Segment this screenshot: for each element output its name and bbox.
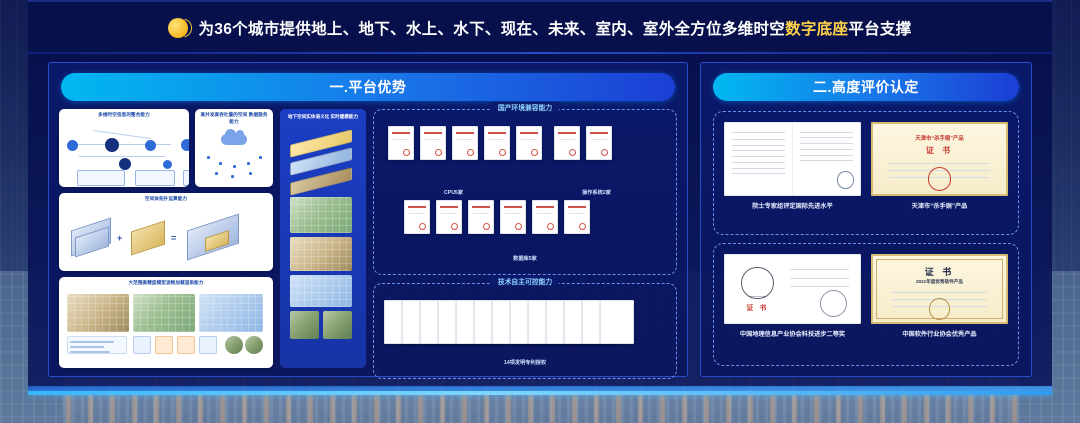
evaluation-item-gis-award[interactable]: ————— 证 书 中国地理信息产业协会科技进步二等奖 <box>724 254 861 358</box>
card-caption: 大范围高精度模型流畅加载渲染能力 <box>59 277 273 288</box>
card-multi-dim-integration[interactable]: 多维时空信息的整合能力 <box>59 109 189 187</box>
card-caption: 空间体拓扑运算能力 <box>59 193 273 204</box>
left-column-underground: 地下空间实体语义化 实时建模能力 <box>280 109 366 368</box>
certificate-thumbnail-document <box>724 122 861 196</box>
card-high-concurrency-service[interactable]: 高并发高吞吐量的空间 数据服务能力 <box>195 109 273 187</box>
certificate-title: 天津市“杀手锏”产品 <box>884 134 996 142</box>
underground-modeling-art <box>280 131 366 368</box>
panel-right-header: 二.高度评价认定 <box>713 73 1019 101</box>
rendering-art <box>59 290 273 368</box>
evaluation-caption: 天津市“杀手锏”产品 <box>912 201 968 210</box>
title-highlight: 数字底座 <box>785 21 848 38</box>
group-label-os: 操作系统2家 <box>525 189 668 196</box>
certificate-thumbnail-tianjin: 天津市“杀手锏”产品 证 书 <box>871 122 1008 196</box>
evaluation-item-academician[interactable]: 院士专家组评定国际先进水平 <box>724 122 861 226</box>
panel-platform-advantages: 一.平台优势 多维时空信息的整合能力 <box>48 62 688 377</box>
left-column-groups: 国产环境兼容能力 CPU5家 操作系统2家 <box>373 109 677 368</box>
group-label-database: 数据库5家 <box>382 255 668 262</box>
group-domestic-compatibility: 国产环境兼容能力 CPU5家 操作系统2家 <box>373 109 677 275</box>
certificate-title: 证 书 <box>873 265 1006 278</box>
evaluation-group-top: 院士专家组评定国际先进水平 天津市“杀手锏”产品 证 书 天津市“杀手锏”产品 <box>713 111 1019 235</box>
card-spatial-topology[interactable]: 空间体拓扑运算能力 + = <box>59 193 273 271</box>
evaluation-item-software-excellence[interactable]: 证 书 2021年度优秀软件产品 中国软件行业协会优秀产品 <box>871 254 1008 358</box>
left-column-diagrams: 多维时空信息的整合能力 <box>59 109 273 368</box>
page-title: 为36个城市提供地上、地下、水上、水下、现在、未来、室内、室外全方位多维时空数字… <box>198 17 911 39</box>
certificate-subtitle: 证 书 <box>736 303 779 313</box>
evaluation-caption: 中国地理信息产业协会科技进步二等奖 <box>740 329 845 338</box>
top-hairline <box>28 0 1052 2</box>
certificate-wall-database <box>382 200 668 252</box>
card-large-scale-rendering[interactable]: 大范围高精度模型流畅加载渲染能力 <box>59 277 273 368</box>
card-underground-semantic-modeling[interactable]: 地下空间实体语义化 实时建模能力 <box>280 109 366 368</box>
evaluation-item-tianjin-killer-product[interactable]: 天津市“杀手锏”产品 证 书 天津市“杀手锏”产品 <box>871 122 1008 226</box>
cloud-service-art <box>195 122 273 187</box>
moon-icon <box>168 18 188 38</box>
evaluation-caption: 中国软件行业协会优秀产品 <box>902 329 976 338</box>
panel-left-header: 一.平台优势 <box>61 73 675 101</box>
panel-left-title: 一.平台优势 <box>330 77 407 97</box>
topology-operation-art: + = <box>59 206 273 271</box>
group-independent-controllable-tech: 技术自主可控能力 14项发明专利授权 <box>373 283 677 379</box>
group-label-patents: 14项发明专利授权 <box>382 359 668 366</box>
bottom-accent-bar <box>28 391 1052 395</box>
card-caption: 多维时空信息的整合能力 <box>59 109 189 120</box>
title-prefix: 为36个城市提供地上、地下、水上、水下、现在、未来、室内、室外全方位多维时空 <box>198 21 785 38</box>
title-suffix: 平台支撑 <box>848 21 911 38</box>
group-title: 国产环境兼容能力 <box>491 102 559 112</box>
certificate-thumbnail-software: 证 书 2021年度优秀软件产品 <box>871 254 1008 324</box>
slide-title-bar: 为36个城市提供地上、地下、水上、水下、现在、未来、室内、室外全方位多维时空数字… <box>28 6 1052 50</box>
certificate-subtitle: 2021年度优秀软件产品 <box>873 279 1006 285</box>
evaluation-caption: 院士专家组评定国际先进水平 <box>752 201 832 210</box>
title-divider <box>28 52 1052 54</box>
panel-right-title: 二.高度评价认定 <box>813 77 919 97</box>
network-diagram-art <box>59 122 189 187</box>
certificate-thumbnail-gis: ————— 证 书 <box>724 254 861 324</box>
group-title: 技术自主可控能力 <box>491 276 559 286</box>
patent-certificate-wall <box>382 300 668 356</box>
panel-high-evaluation: 二.高度评价认定 <box>700 62 1032 377</box>
group-label-cpu: CPU5家 <box>382 189 525 196</box>
certificate-wall-cpu-os <box>382 126 668 186</box>
evaluation-group-bottom: ————— 证 书 中国地理信息产业协会科技进步二等奖 证 书 2021年度优秀… <box>713 243 1019 367</box>
certificate-subtitle: 证 书 <box>873 145 1006 156</box>
card-caption: 地下空间实体语义化 实时建模能力 <box>280 109 366 122</box>
